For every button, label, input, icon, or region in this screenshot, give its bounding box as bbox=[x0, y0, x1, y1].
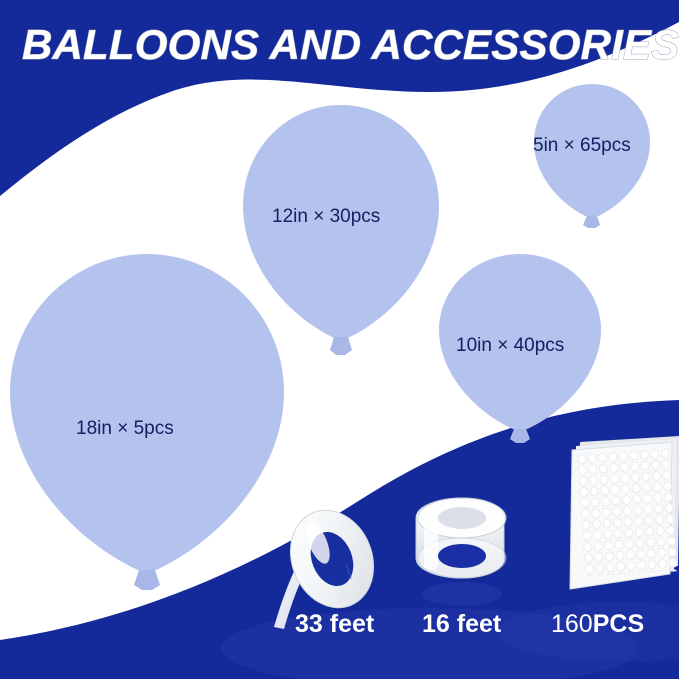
caption-glue-dots: 160PCS bbox=[551, 610, 644, 639]
glue-dots-sheet-graphic bbox=[552, 434, 679, 604]
caption-glue-number: 160 bbox=[551, 610, 593, 638]
caption-tape-strip: 33 feet bbox=[295, 610, 374, 639]
tape-inner-hole bbox=[438, 544, 486, 568]
glue-dots-sheet bbox=[552, 434, 679, 604]
clear-tape-roll bbox=[404, 482, 516, 610]
balloon-shape-12in bbox=[241, 103, 441, 358]
balloon-label-18in: 18in × 5pcs bbox=[76, 418, 174, 440]
product-infographic-poster: BALLOONS AND ACCESSORIES 18in × 5pcs 12i… bbox=[0, 0, 679, 679]
tape-reflection bbox=[422, 582, 502, 606]
balloon-label-5in: 5in × 65pcs bbox=[533, 135, 631, 157]
clear-tape-roll-graphic bbox=[404, 482, 516, 610]
caption-glue-unit: PCS bbox=[593, 610, 644, 638]
caption-clear-tape: 16 feet bbox=[422, 610, 501, 639]
balloon-label-12in: 12in × 30pcs bbox=[272, 206, 380, 228]
glue-dot-grid bbox=[576, 447, 678, 577]
balloon-label-10in: 10in × 40pcs bbox=[456, 335, 564, 357]
page-title: BALLOONS AND ACCESSORIES bbox=[22, 18, 679, 72]
tape-top-hole bbox=[438, 507, 486, 529]
tape-body-highlight bbox=[424, 522, 438, 570]
balloon-12in bbox=[241, 103, 441, 358]
